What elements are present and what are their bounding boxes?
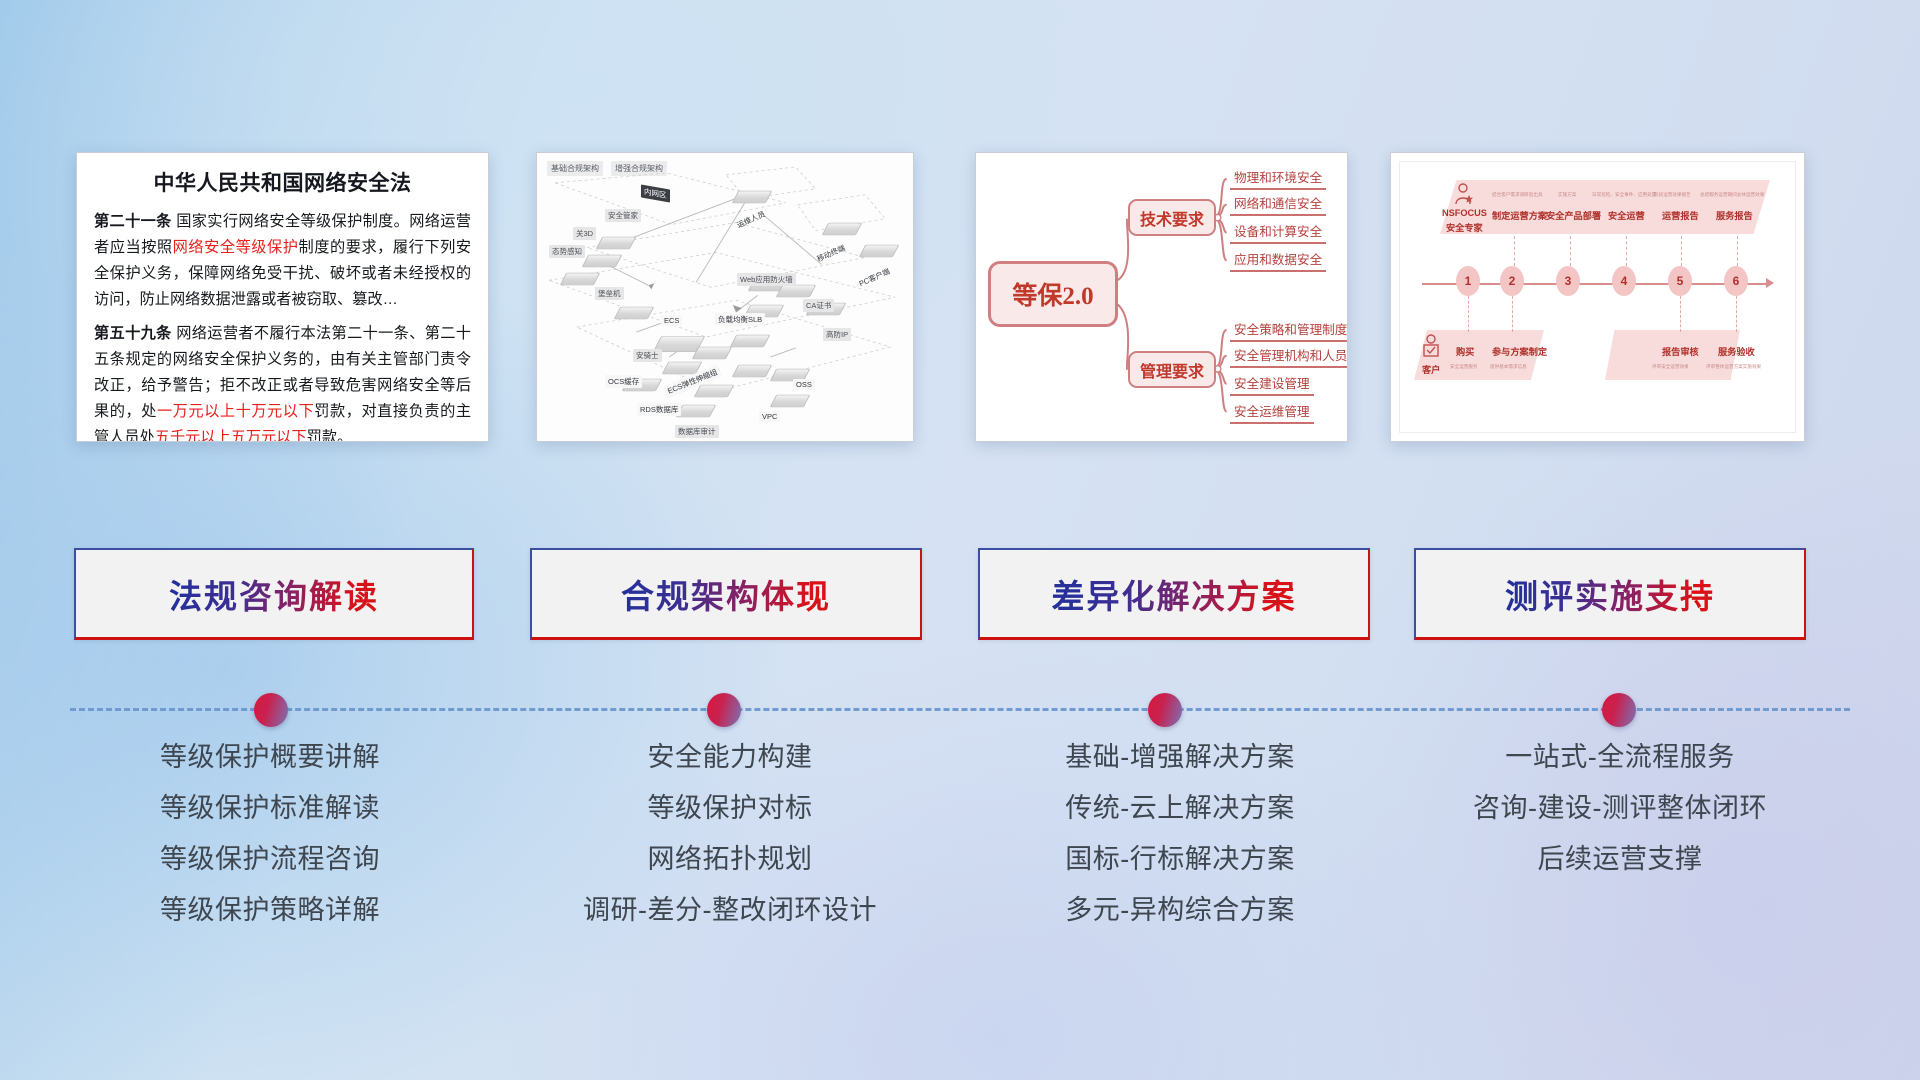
section-titles-row: 法规咨询解读 合规架构体现 差异化解决方案 测评实施支持 [0,548,1920,644]
timeline-connector [1468,296,1469,332]
mindmap-leaf[interactable]: 安全运维管理 [1230,401,1314,424]
node-label-web-application-firewall: Web应用防火墙 [737,273,796,286]
timeline-node[interactable]: 5 [1668,266,1692,296]
timeline-node[interactable]: 2 [1500,266,1524,296]
timeline-marker-1[interactable] [254,693,288,727]
detail-item: 网络拓扑规划 [530,834,930,885]
bottom-step-sub: 安全运营服务 [1450,364,1478,370]
timeline-connector [1736,296,1737,332]
customer-label: 客户 [1422,362,1440,376]
detail-item: 等级保护流程咨询 [70,834,470,885]
timeline-connector [1737,236,1738,266]
section-title-box-1[interactable]: 法规咨询解读 [74,548,474,640]
node-label-database-audit: 数据库审计 [675,425,719,438]
top-step-title: 运营报告 [1662,208,1699,222]
architecture-connectors [537,153,913,441]
bottom-step-sub: 评审整体运营方案实施效果 [1706,364,1761,370]
iso-node [822,223,863,235]
mindmap-branch-management[interactable]: 管理要求 [1128,351,1216,388]
iso-node [730,335,771,347]
detail-item: 等级保护对标 [530,783,930,834]
section-title-box-2[interactable]: 合规架构体现 [530,548,922,640]
iso-node [732,365,773,377]
timeline-marker-4[interactable] [1602,693,1636,727]
dashed-timeline [0,690,1920,730]
iso-node [770,395,811,407]
top-step-sub: 总结服务运营期间总体运营效果 [1700,192,1764,198]
section-title-box-4[interactable]: 测评实施支持 [1414,548,1806,640]
mindmap-leaf[interactable]: 设备和计算安全 [1230,221,1326,244]
top-step-title: 安全运营 [1608,208,1645,222]
section-details-row: 等级保护概要讲解 等级保护标准解读 等级保护流程咨询 等级保护策略详解 安全能力… [0,732,1920,992]
node-label-situational-awareness: 态势感知 [549,245,585,258]
top-step-title: 制定运营方案 [1492,208,1547,222]
iso-node [694,385,735,397]
timeline-marker-3[interactable] [1148,693,1182,727]
timeline-node[interactable]: 4 [1612,266,1636,296]
bottom-step-sub: 评审安全运营效果 [1652,364,1689,370]
node-label-load-balancer-slb: 负载均衡SLB [715,313,765,326]
timeline-connector [1514,236,1515,266]
top-step-sub: 日常巡检、安全事件、应用处置 [1592,192,1656,198]
bottom-step-title: 参与方案制定 [1492,344,1547,358]
section-title-text: 测评实施支持 [1505,570,1715,618]
mindmap-leaf[interactable]: 安全管理机构和人员 [1230,345,1348,368]
node-label-anti-ddos-ip: 高防IP [823,328,851,341]
mindmap-leaf[interactable]: 网络和通信安全 [1230,193,1326,216]
iso-node [732,191,773,203]
mindmap-leaf[interactable]: 应用和数据安全 [1230,249,1326,272]
top-step-sub: 实施方案 [1558,192,1576,198]
article-59-highlight-2: 五千元以上五万元以下 [155,429,307,442]
detail-item: 传统-云上解决方案 [980,783,1380,834]
article-59-highlight-1: 一万元以上十万元以下 [157,403,314,420]
detail-item: 国标-行标解决方案 [980,834,1380,885]
article-59-text-c: 罚款。 [307,429,353,442]
top-step-title: 服务报告 [1716,208,1753,222]
law-article-21: 第二十一条 国家实行网络安全等级保护制度。网络运营者应当按照网络安全等级保护制度… [94,209,471,314]
detail-item: 等级保护标准解读 [70,783,470,834]
mindmap-branch-technical[interactable]: 技术要求 [1128,199,1216,236]
card-nsfocus-service-timeline[interactable]: NSFOCUS 安全专家 客户 1 2 3 4 5 6 [1390,152,1805,442]
mindmap-root-node[interactable]: 等保2.0 [988,261,1118,327]
law-document: 中华人民共和国网络安全法 第二十一条 国家实行网络安全等级保护制度。网络运营者应… [77,153,488,442]
expert-label-line1: NSFOCUS [1442,208,1487,218]
node-label-oss: OSS [793,379,815,390]
bottom-step-title: 服务验收 [1718,344,1755,358]
timeline-node[interactable]: 1 [1456,266,1480,296]
iso-node [614,307,655,319]
node-label-vpc: VPC [759,411,780,422]
iso-node [596,237,637,249]
bottom-step-title: 购买 [1456,344,1474,358]
top-step-sub: 结合客户需求调研后出具 [1492,192,1543,198]
card-cybersecurity-law[interactable]: 中华人民共和国网络安全法 第二十一条 国家实行网络安全等级保护制度。网络运营者应… [76,152,489,442]
top-step-sub: 阶段运营效果报告 [1654,192,1691,198]
iso-node [692,347,733,359]
node-label-bastion-host: 堡垒机 [595,287,624,300]
timeline-arrow-icon [1766,278,1774,288]
detail-item: 基础-增强解决方案 [980,732,1380,783]
timeline-connector [1681,236,1682,266]
node-label-guan3d: 关3D [573,227,596,240]
section-detail-column-3: 基础-增强解决方案 传统-云上解决方案 国标-行标解决方案 多元-异构综合方案 [980,732,1380,936]
timeline-connector [1570,236,1571,266]
section-detail-column-4: 一站式-全流程服务 咨询-建设-测评整体闭环 后续运营支撑 [1420,732,1820,885]
section-title-box-3[interactable]: 差异化解决方案 [978,548,1370,640]
iso-node [859,245,900,257]
mindmap-leaf[interactable]: 物理和环境安全 [1230,167,1326,190]
card-compliance-architecture[interactable]: 基础合规架构 增强合规架构 [536,152,914,442]
timeline-node[interactable]: 3 [1556,266,1580,296]
article-59-label: 第五十九条 [94,325,172,342]
timeline-connector [1626,236,1627,266]
timeline-marker-2[interactable] [707,693,741,727]
section-detail-column-2: 安全能力构建 等级保护对标 网络拓扑规划 调研-差分-整改闭环设计 [530,732,930,936]
mindmap-leaf[interactable]: 安全策略和管理制度 [1230,319,1348,342]
detail-item: 等级保护策略详解 [70,885,470,936]
card-dengbao-mindmap[interactable]: 等保2.0 技术要求 管理要求 物理和环境安全 网络和通信安全 设备和计算安全 … [975,152,1348,442]
law-article-59: 第五十九条 网络运营者不履行本法第二十一条、第二十五条规定的网络安全保护义务的，… [94,321,471,442]
detail-item: 调研-差分-整改闭环设计 [530,885,930,936]
section-title-text: 合规架构体现 [621,570,831,618]
timeline-connector [1512,296,1513,332]
iso-node [582,255,623,267]
top-band-shape [1440,180,1770,234]
security-expert-icon [1450,182,1476,208]
article-21-label: 第二十一条 [94,213,172,230]
timeline-connector [1680,296,1681,332]
section-detail-column-1: 等级保护概要讲解 等级保护标准解读 等级保护流程咨询 等级保护策略详解 [70,732,470,936]
iso-node [676,405,717,417]
law-title: 中华人民共和国网络安全法 [94,167,471,197]
expert-label-line2: 安全专家 [1446,220,1483,234]
node-label-ecs: ECS [661,315,682,326]
section-title-text: 差异化解决方案 [1052,570,1297,618]
nsfocus-timeline: NSFOCUS 安全专家 客户 1 2 3 4 5 6 [1391,153,1804,441]
timeline-node[interactable]: 6 [1724,266,1748,296]
article-21-highlight: 网络安全等级保护 [173,239,299,256]
node-label-ca-certificate: CA证书 [803,299,834,312]
detail-item: 多元-异构综合方案 [980,885,1380,936]
thumbnail-cards-row: 中华人民共和国网络安全法 第二十一条 国家实行网络安全等级保护制度。网络运营者应… [0,0,1920,460]
detail-item: 咨询-建设-测评整体闭环 [1420,783,1820,834]
detail-item: 安全能力构建 [530,732,930,783]
node-label-anqishi: 安骑士 [633,349,662,362]
detail-item: 一站式-全流程服务 [1420,732,1820,783]
node-label-security-butler: 安全管家 [605,209,641,222]
mindmap-leaf[interactable]: 安全建设管理 [1230,373,1314,396]
node-label-ocs-cache: OCS缓存 [605,375,642,388]
bottom-step-title: 报告审核 [1662,344,1699,358]
iso-node [776,285,817,297]
bottom-step-sub: 提供基本需求信息 [1490,364,1527,370]
mindmap: 等保2.0 技术要求 管理要求 物理和环境安全 网络和通信安全 设备和计算安全 … [976,153,1347,441]
architecture-diagram: 基础合规架构 增强合规架构 [537,153,913,441]
detail-item: 后续运营支撑 [1420,834,1820,885]
node-label-rds-database: RDS数据库 [637,403,681,416]
iso-node [560,273,601,285]
detail-item: 等级保护概要讲解 [70,732,470,783]
timeline-dashed-line [70,708,1850,711]
customer-icon [1420,334,1442,360]
section-title-text: 法规咨询解读 [169,570,379,618]
top-step-title: 安全产品部署 [1546,208,1601,222]
